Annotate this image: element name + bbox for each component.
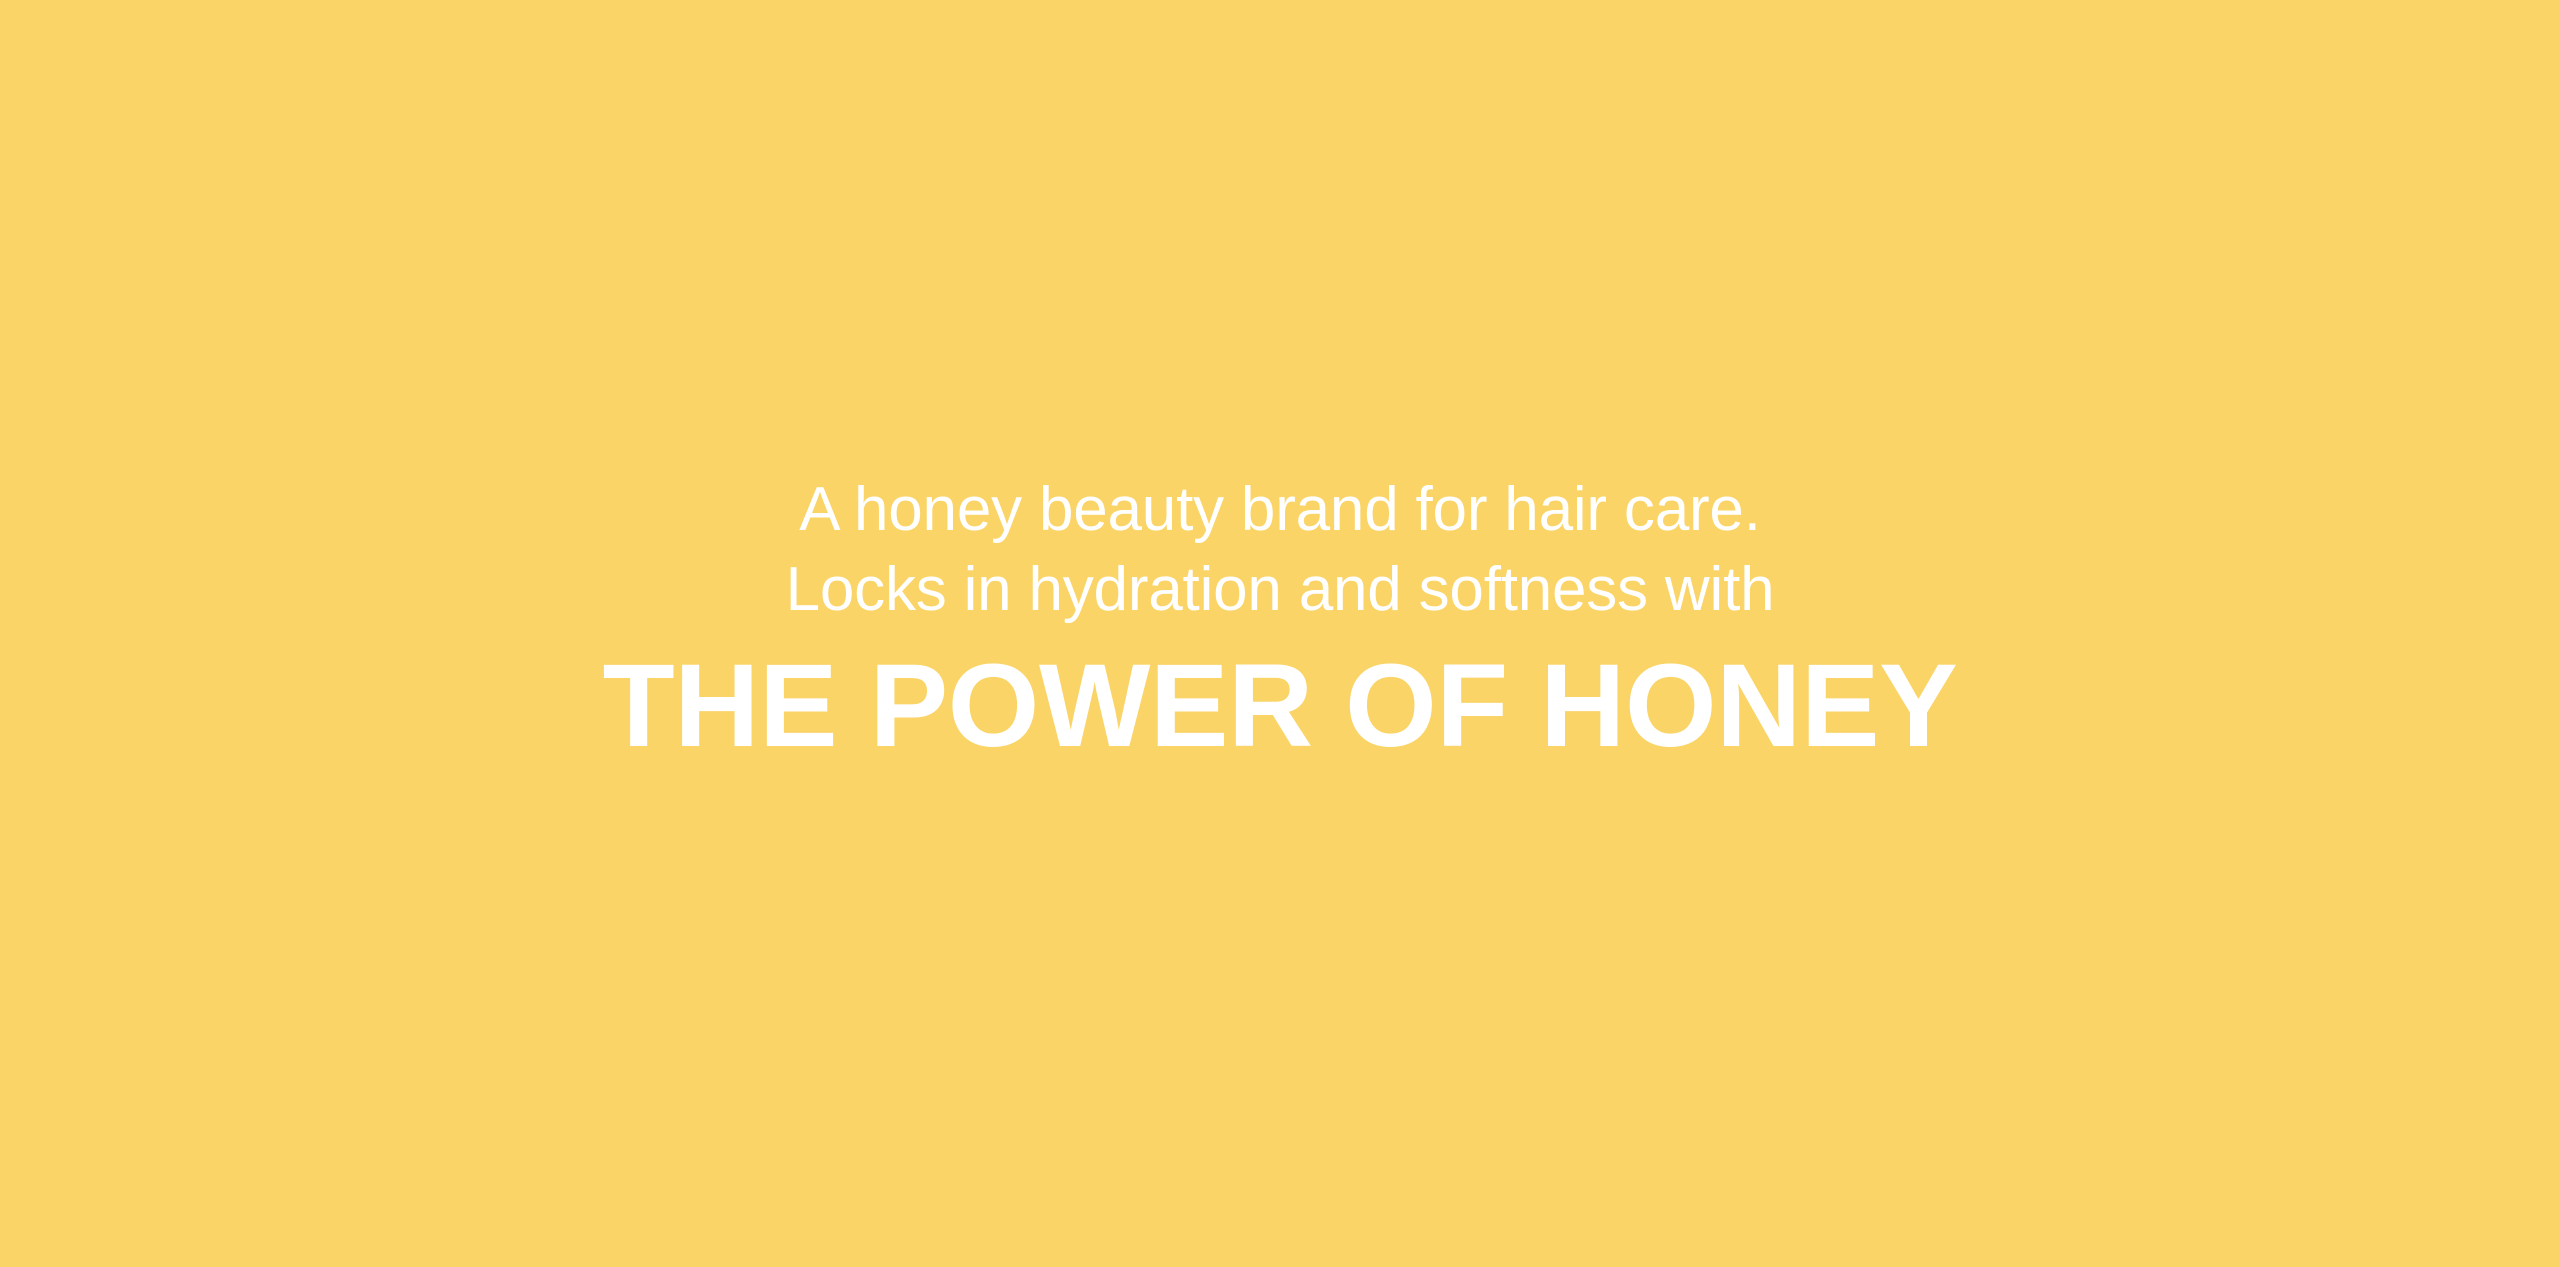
hero-subheading-line-2: Locks in hydration and softness with	[786, 550, 1775, 630]
hero-copy-block: A honey beauty brand for hair care. Lock…	[0, 470, 2560, 769]
hero-headline: THE POWER OF HONEY	[603, 644, 1958, 769]
hero-subheading: A honey beauty brand for hair care. Lock…	[786, 470, 1775, 630]
hero-banner: A honey beauty brand for hair care. Lock…	[0, 0, 2560, 1267]
hero-subheading-line-1: A honey beauty brand for hair care.	[786, 470, 1775, 550]
